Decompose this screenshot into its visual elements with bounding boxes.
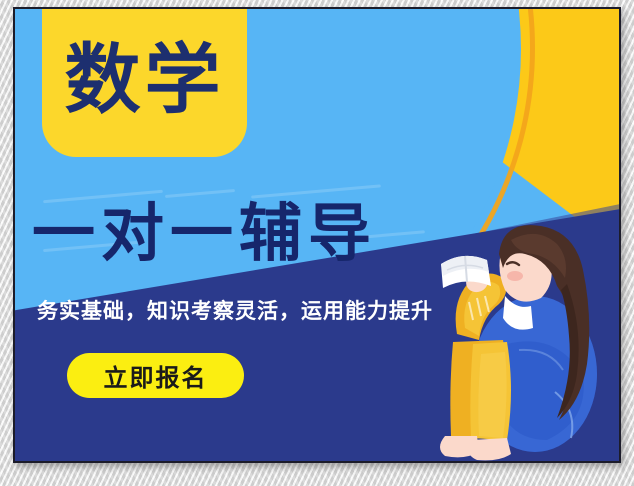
page-background: 数学 一对一辅导 务实基础，知识考察灵活，运用能力提升 立即报名 — [0, 0, 634, 486]
subtitle-text: 务实基础，知识考察灵活，运用能力提升 — [37, 301, 433, 322]
course-promo-poster: 数学 一对一辅导 务实基础，知识考察灵活，运用能力提升 立即报名 — [13, 7, 621, 463]
enroll-now-button[interactable]: 立即报名 — [67, 353, 244, 398]
girl-reading-illustration — [407, 224, 621, 463]
enroll-now-button-label: 立即报名 — [104, 358, 208, 393]
subject-badge-label: 数学 — [65, 42, 225, 118]
subject-badge: 数学 — [42, 7, 247, 157]
page-title: 一对一辅导 — [32, 202, 377, 265]
